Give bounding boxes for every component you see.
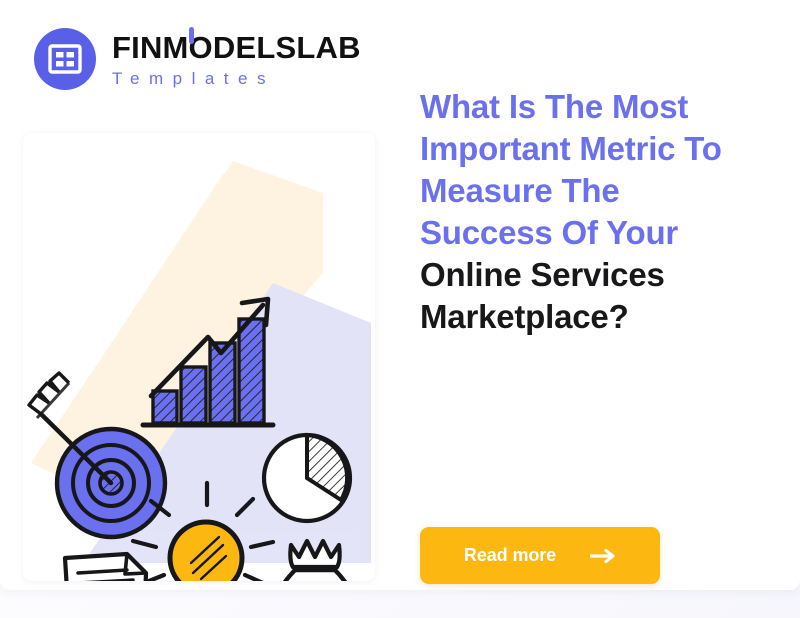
headline-line-4: Success Of Your <box>420 212 780 254</box>
headline-line-1: What Is The Most <box>420 86 780 128</box>
pie-chart-icon <box>264 435 350 521</box>
read-more-label: Read more <box>464 545 556 566</box>
brand-name-wrapper: FINMODELSLAB <box>112 32 361 63</box>
arrow-right-icon <box>590 549 616 563</box>
brand-name: FINMODELSLAB <box>112 30 361 65</box>
page-title: What Is The Most Important Metric To Mea… <box>420 86 780 337</box>
checklist-document-icon <box>65 554 146 581</box>
glowing-coin-icon <box>170 522 242 581</box>
headline-line-6: Marketplace? <box>420 296 780 338</box>
headline-line-5: Online Services <box>420 254 780 296</box>
grid-window-icon <box>34 28 96 90</box>
read-more-button[interactable]: Read more <box>420 527 660 584</box>
brand-wordmark: FINMODELSLAB Templates <box>112 32 361 87</box>
power-pin-icon <box>189 27 194 44</box>
headline-line-3: Measure The <box>420 170 780 212</box>
promo-banner: FINMODELSLAB Templates <box>0 0 800 618</box>
illustration-card: $ <box>23 133 375 581</box>
brand-tagline: Templates <box>112 70 361 87</box>
headline-line-2: Important Metric To <box>420 128 780 170</box>
brand-logo[interactable]: FINMODELSLAB Templates <box>34 28 361 90</box>
business-metrics-illustration: $ <box>23 133 375 581</box>
